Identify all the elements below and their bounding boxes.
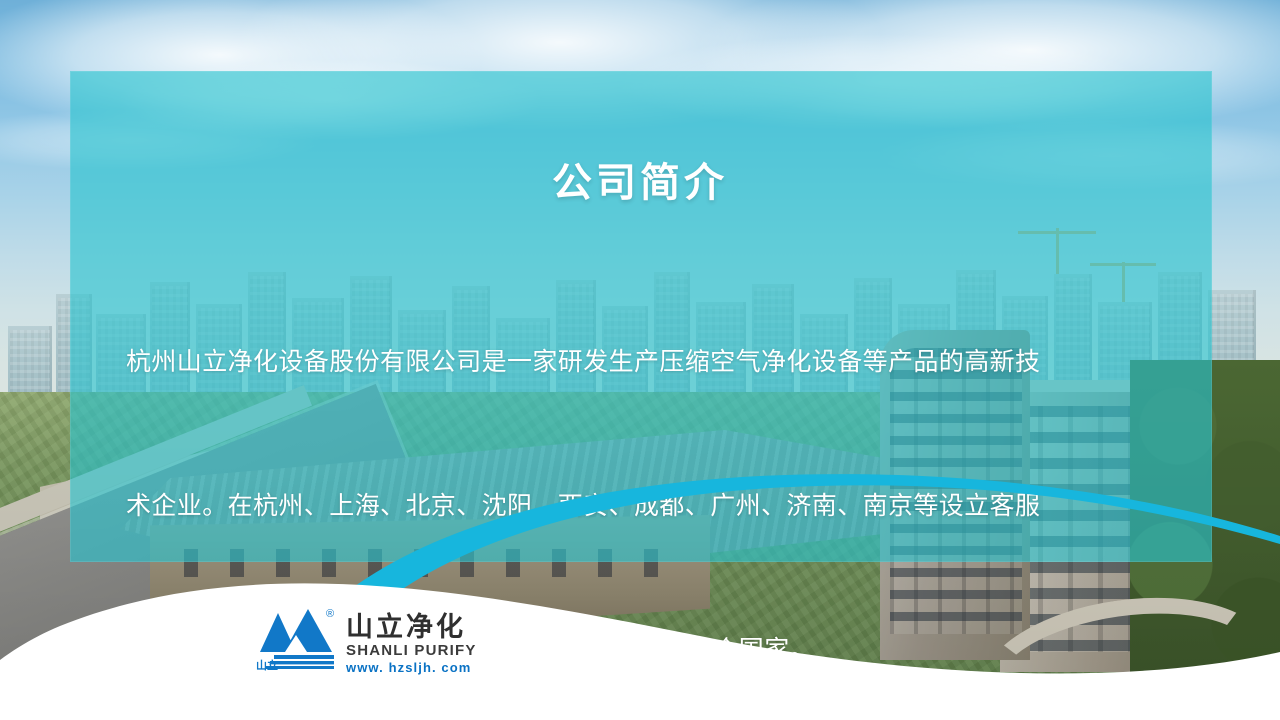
logo-website: www. hzsljh. com (346, 661, 477, 674)
slide-canvas: 公司简介 杭州山立净化设备股份有限公司是一家研发生产压缩空气净化设备等产品的高新… (0, 0, 1280, 720)
mountain-peaks-icon: 山立 ® (256, 605, 340, 673)
page-title: 公司简介 (0, 150, 1280, 208)
registered-trademark-icon: ® (326, 608, 334, 620)
body-line: 杭州山立净化设备股份有限公司是一家研发生产压缩空气净化设备等产品的高新技 (126, 338, 1116, 386)
company-logo: 山立 ® 山立净化 SHANLI PURIFY www. hzsljh. com (256, 604, 477, 674)
white-banner-shape (0, 583, 1280, 720)
logo-mark-label: 山立 (256, 658, 278, 672)
logo-wordmark: 山立净化 SHANLI PURIFY www. hzsljh. com (346, 604, 477, 674)
logo-name-cn: 山立净化 (346, 614, 477, 641)
bottom-banner-graphic (0, 440, 1280, 720)
logo-name-en: SHANLI PURIFY (346, 643, 477, 658)
